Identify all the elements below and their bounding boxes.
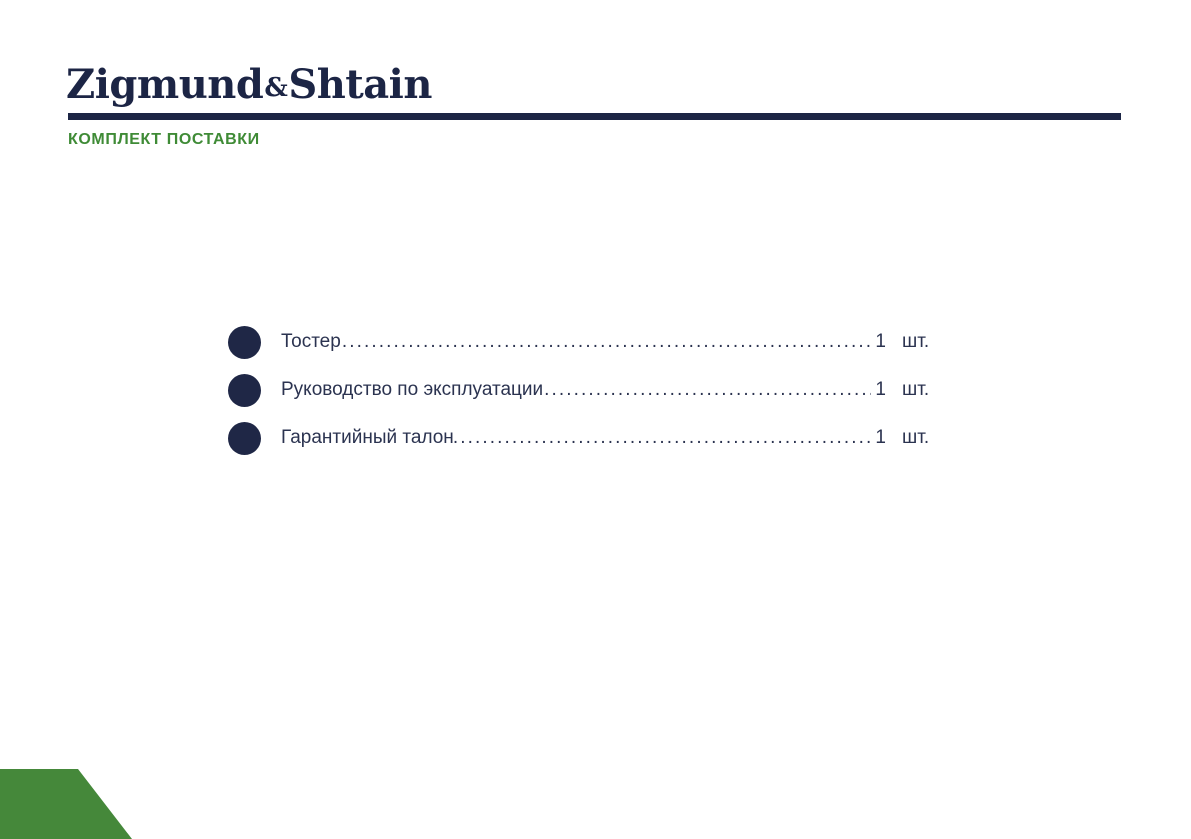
list-item: Руководство по эксплуатации 1 шт. (228, 366, 948, 414)
list-item-quantity: 1 (872, 331, 886, 353)
list-item-unit: шт. (886, 379, 948, 401)
brand-name-first: Zigmund (66, 61, 263, 108)
brand-logo: Zigmund&Shtain (66, 62, 432, 111)
bullet-icon (228, 422, 261, 455)
list-item-body: Гарантийный талон 1 шт. (281, 427, 948, 449)
list-item-unit: шт. (886, 331, 948, 353)
list-item-quantity: 1 (872, 379, 886, 401)
bullet-icon (228, 326, 261, 359)
corner-decoration (0, 769, 132, 839)
list-item-body: Руководство по эксплуатации 1 шт. (281, 379, 948, 401)
dotted-leader (453, 427, 871, 449)
page-title: КОМПЛЕКТ ПОСТАВКИ (68, 131, 260, 149)
list-item: Тостер 1 шт. (228, 318, 948, 366)
list-item-label: Тостер (281, 331, 341, 353)
package-contents-list: Тостер 1 шт. Руководство по эксплуатации… (228, 318, 948, 462)
list-item-body: Тостер 1 шт. (281, 331, 948, 353)
list-item: Гарантийный талон 1 шт. (228, 414, 948, 462)
dotted-leader (342, 331, 871, 353)
bullet-icon (228, 374, 261, 407)
brand-ampersand: & (263, 73, 288, 103)
list-item-quantity: 1 (872, 427, 886, 449)
header-divider (68, 113, 1121, 120)
list-item-label: Гарантийный талон (281, 427, 454, 449)
brand-name-second: Shtain (288, 61, 432, 108)
list-item-label: Руководство по эксплуатации (281, 379, 543, 401)
list-item-unit: шт. (886, 427, 948, 449)
dotted-leader (544, 379, 871, 401)
